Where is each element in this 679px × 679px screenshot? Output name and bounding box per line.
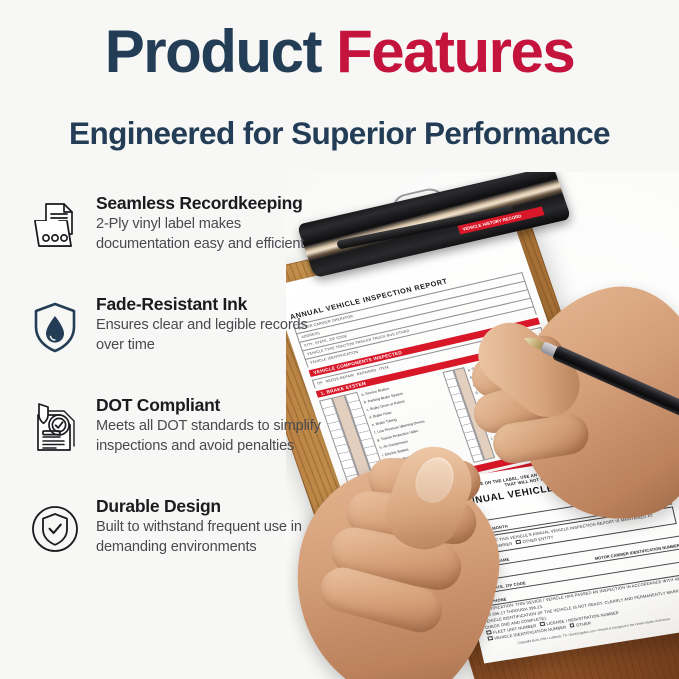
- feature-desc-line: demanding environments: [96, 538, 334, 557]
- checkbox-vin[interactable]: [487, 636, 492, 641]
- feature-title: Fade-Resistant Ink: [96, 294, 334, 315]
- feature-title: Seamless Recordkeeping: [96, 193, 334, 214]
- column-header: ITEM: [376, 365, 389, 372]
- page-title: Product Features: [0, 22, 679, 82]
- documents-in-file-box-icon: [26, 197, 84, 255]
- feature-desc-line: Ensures clear and legible records: [96, 316, 334, 335]
- shield-with-ink-drop-icon: [26, 298, 84, 356]
- feature-item-dot-compliant: DOT Compliant Meets all DOT standards to…: [24, 395, 334, 467]
- title-part-features: Features: [336, 18, 574, 85]
- feature-item-seamless-recordkeeping: Seamless Recordkeeping 2-Ply vinyl label…: [24, 193, 334, 265]
- feature-desc-line: documentation easy and efficient: [96, 235, 334, 254]
- certified-document-shield-icon: [26, 399, 84, 457]
- checkbox-other-label: OTHER: [576, 620, 592, 627]
- feature-list: Seamless Recordkeeping 2-Ply vinyl label…: [24, 193, 334, 597]
- checkbox-other[interactable]: [569, 623, 574, 628]
- feature-desc-line: over time: [96, 336, 334, 355]
- feature-desc-line: 2-Ply vinyl label makes: [96, 215, 334, 234]
- feature-desc-line: Meets all DOT standards to simplify: [96, 417, 334, 436]
- checkbox-other-entity[interactable]: [515, 539, 520, 544]
- feature-title: DOT Compliant: [96, 395, 334, 416]
- feature-title: Durable Design: [96, 496, 334, 517]
- feature-item-durable-design: Durable Design Built to withstand freque…: [24, 496, 334, 568]
- feature-desc-line: inspections and avoid penalties: [96, 437, 334, 456]
- product-features-infographic: Product Features Engineered for Superior…: [0, 0, 679, 679]
- feature-desc-line: Built to withstand frequent use in: [96, 518, 334, 537]
- checkbox-fleet-unit-number[interactable]: [486, 630, 491, 635]
- product-photo: BUCK U.S ANNUAL VEHICLE INSPECTION REPOR…: [286, 172, 679, 679]
- title-part-product: Product: [105, 18, 336, 85]
- feature-item-fade-resistant-ink: Fade-Resistant Ink Ensures clear and leg…: [24, 294, 334, 366]
- shield-check-circle-icon: [26, 500, 84, 558]
- thumbnail: [410, 452, 460, 508]
- page-subtitle: Engineered for Superior Performance: [0, 115, 679, 152]
- checkbox-license-registration[interactable]: [539, 621, 544, 626]
- column-header: REPAIRED: [353, 368, 377, 377]
